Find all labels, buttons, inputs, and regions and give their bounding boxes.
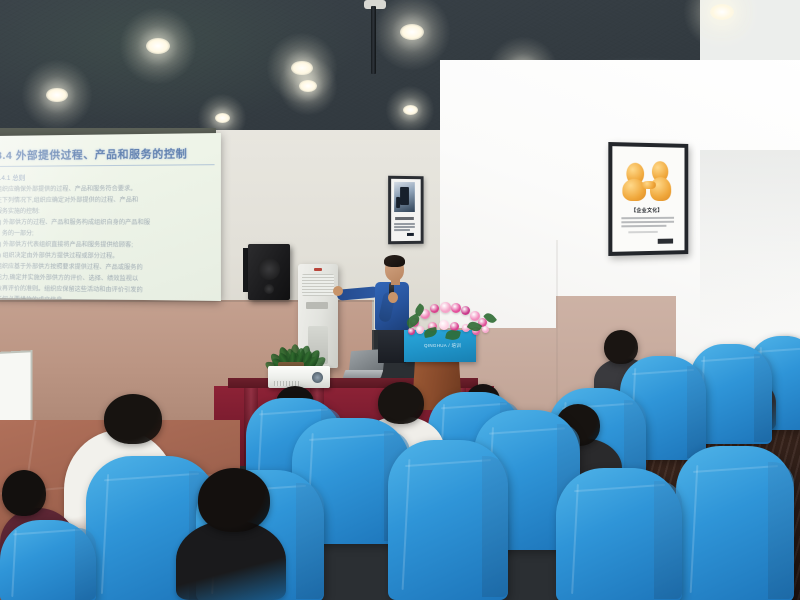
seat-seam-top (13, 529, 82, 535)
auditorium-seat[interactable] (556, 468, 682, 600)
conference-room-photo: 8.4 外部提供过程、产品和服务的控制 8.4.1 总则 组织应确保外部提供的过… (0, 0, 800, 600)
seat-side-shadow (75, 528, 96, 600)
seat-seam-top (574, 484, 665, 492)
seat-seam (571, 484, 578, 594)
attendee-head (2, 470, 46, 516)
auditorium-seat[interactable] (0, 520, 96, 600)
seat-seam (12, 530, 17, 597)
seat-side-shadow (654, 481, 682, 599)
